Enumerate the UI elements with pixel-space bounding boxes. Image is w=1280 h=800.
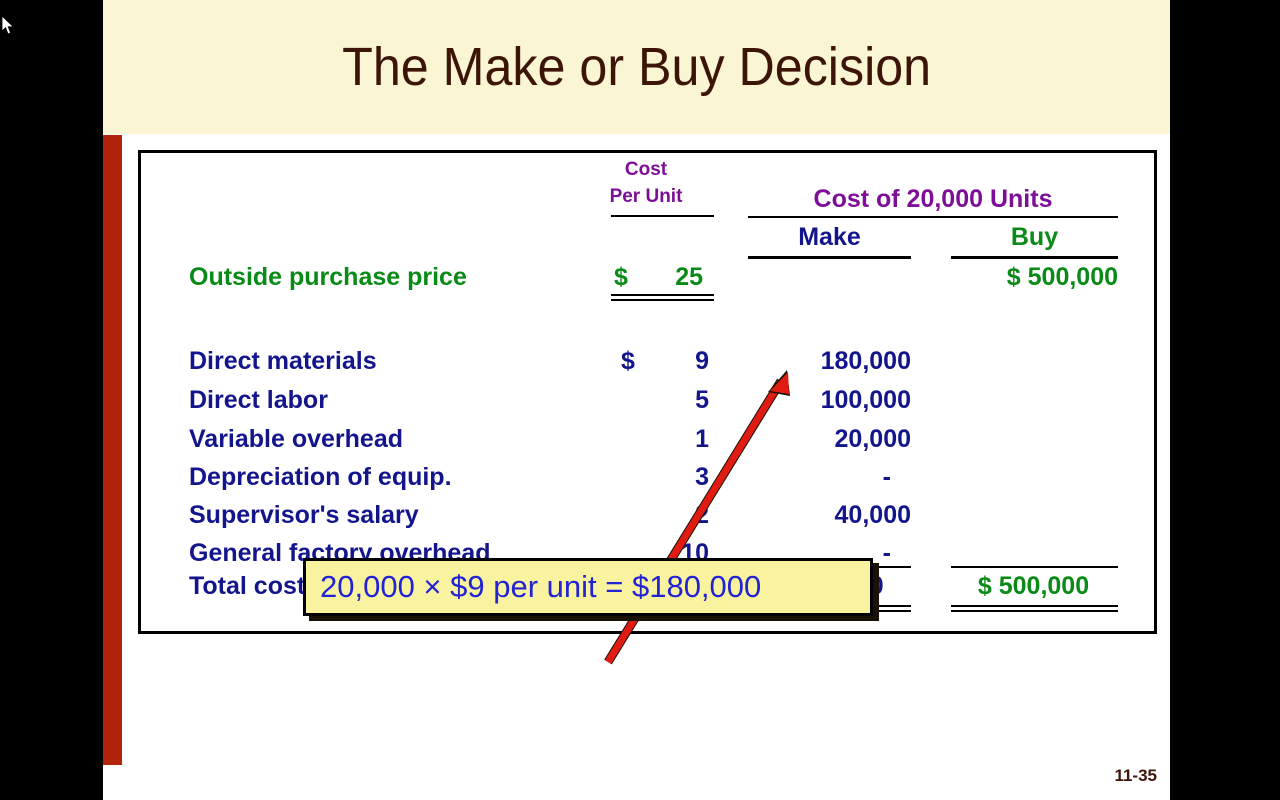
row-buy-total-cost: $ 500,000 xyxy=(951,572,1116,601)
rule-group-header xyxy=(748,216,1118,218)
page-title: The Make or Buy Decision xyxy=(342,36,931,98)
page-number: 11-35 xyxy=(1114,766,1157,786)
row-label-direct-materials: Direct materials xyxy=(189,347,377,376)
row-label-variable-overhead: Variable overhead xyxy=(189,425,403,454)
header-make: Make xyxy=(748,223,911,252)
callout-text: 20,000 × $9 per unit = $180,000 xyxy=(306,569,761,605)
slide-canvas: The Make or Buy Decision Cost Per Unit C… xyxy=(103,0,1170,800)
header-cost-line2: Per Unit xyxy=(596,186,696,208)
callout-box: 20,000 × $9 per unit = $180,000 xyxy=(303,558,873,616)
rule-purchase-unit-a xyxy=(611,294,714,296)
row-label-outside-purchase-price: Outside purchase price xyxy=(189,263,467,292)
header-cost-of-units: Cost of 20,000 Units xyxy=(748,185,1118,214)
rule-per-unit-header xyxy=(611,215,714,217)
rule-make-header xyxy=(748,256,911,259)
row-unit-value-direct-labor: 5 xyxy=(611,386,709,415)
row-make-direct-materials: 180,000 xyxy=(748,347,911,376)
rule-purchase-unit-b xyxy=(611,299,714,301)
row-unit-value-supervisors-salary: 2 xyxy=(611,501,709,530)
accent-bar xyxy=(103,135,122,765)
row-make-variable-overhead: 20,000 xyxy=(748,425,911,454)
rule-total-buy-under-b xyxy=(951,610,1118,612)
row-make-supervisors-salary: 40,000 xyxy=(748,501,911,530)
row-make-depreciation-of-equip: - xyxy=(748,463,891,492)
rule-buy-header xyxy=(951,256,1118,259)
row-unit-value-depreciation-of-equip: 3 xyxy=(611,463,709,492)
rule-total-buy-top xyxy=(951,566,1118,568)
row-unit-value-variable-overhead: 1 xyxy=(611,425,709,454)
header-cost-line1: Cost xyxy=(596,159,696,181)
header-buy: Buy xyxy=(951,223,1118,252)
row-label-total-cost: Total cost xyxy=(189,572,305,601)
row-buy-outside-purchase-price: $ 500,000 xyxy=(951,263,1118,292)
row-label-depreciation-of-equip: Depreciation of equip. xyxy=(189,463,452,492)
title-band: The Make or Buy Decision xyxy=(103,0,1170,134)
row-label-supervisors-salary: Supervisor's salary xyxy=(189,501,419,530)
row-unit-value-direct-materials: 9 xyxy=(611,347,709,376)
row-unit-value-outside-purchase-price: 25 xyxy=(611,263,703,292)
row-make-direct-labor: 100,000 xyxy=(748,386,911,415)
rule-total-buy-under-a xyxy=(951,605,1118,607)
row-label-direct-labor: Direct labor xyxy=(189,386,328,415)
mouse-cursor xyxy=(2,16,16,36)
